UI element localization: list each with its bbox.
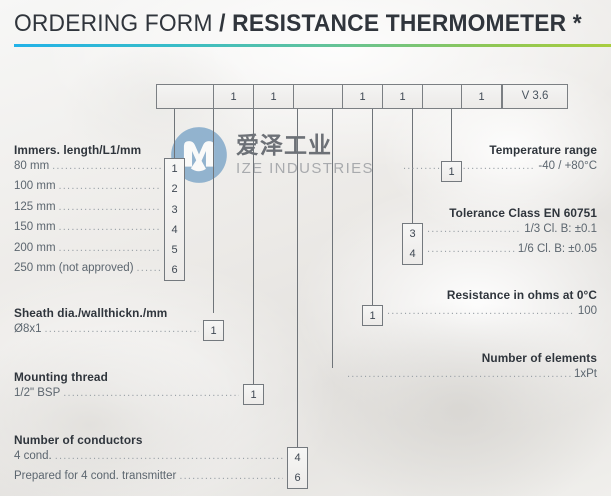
code-cell-8[interactable]: 1 [461,84,502,109]
dot-leader: ........................................… [347,369,571,380]
option-label: 200 mm [14,242,56,254]
page-header: ORDERING FORM / RESISTANCE THERMOMETER * [14,10,611,38]
option-label: -40 / +80°C [538,160,597,172]
dot-leader: ........................................… [59,222,161,233]
option-label: 150 mm [14,221,56,233]
group-temperature-range: Temperature range ......................… [400,143,597,180]
dot-leader: ........................................… [179,471,283,482]
leader-line-mounting-thread [253,109,254,384]
option-row: ........................................… [424,223,597,243]
dot-leader: ........................................… [137,263,161,274]
option-row: ........................................… [400,160,597,180]
option-label: 100 mm [14,180,56,192]
group-title: Resistance in ohms at 0°C [384,288,597,302]
watermark: 爱泽工业 IZE INDUSTRIES [170,124,415,196]
option-row: ........................................… [384,305,597,325]
group-title: Number of elements [344,351,597,365]
code-cell-7[interactable] [422,84,462,109]
option-label: 1/6 Cl. B: ±0.05 [518,243,597,255]
option-row: 1/2" BSP ...............................… [14,387,242,407]
group-title: Tolerance Class EN 60751 [424,206,597,220]
dot-leader: ........................................… [59,202,161,213]
page-title-separator: / [219,10,232,37]
code-value: 1 [204,321,223,342]
page-title-light: ORDERING FORM [14,10,219,37]
code-value: 4 [403,244,422,264]
group-sheath-dia: Sheath dia./wallthickn./mm Ø8x1 ........… [14,306,202,343]
code-cell-5[interactable]: 1 [342,84,383,109]
leader-line-resistance [372,109,373,305]
option-row: 80 mm ..................................… [14,160,164,180]
group-title: Immers. length/L1/mm [14,143,164,157]
option-label: 1xPt [574,368,597,380]
option-label: 80 mm [14,160,49,172]
option-row: ........................................… [344,368,597,388]
option-label: 1/2" BSP [14,387,60,399]
header-gradient-rule [14,44,611,47]
dot-leader: ........................................… [59,243,161,254]
code-cell-2[interactable]: 1 [213,84,254,109]
option-row: Ø8x1 ...................................… [14,323,202,343]
code-cell-4[interactable] [293,84,343,109]
group-immersion-length: Immers. length/L1/mm 80 mm .............… [14,143,164,282]
group-conductors: Number of conductors 4 cond. ...........… [14,433,286,491]
dot-leader: ........................................… [63,388,239,399]
code-value: 6 [165,260,184,280]
watermark-english-text: IZE INDUSTRIES [236,160,374,177]
option-row: ........................................… [424,243,597,263]
option-label: Prepared for 4 cond. transmitter [14,470,176,482]
leader-line-elements [332,109,333,368]
option-row: 4 cond. ................................… [14,450,286,470]
ordering-form-page: ORDERING FORM / RESISTANCE THERMOMETER *… [0,0,611,496]
dot-leader: ........................................… [427,224,521,235]
dot-leader: ........................................… [55,451,283,462]
page-title-bold: RESISTANCE THERMOMETER * [232,10,582,37]
option-row: 100 mm .................................… [14,180,164,200]
option-row: 150 mm .................................… [14,221,164,241]
code-value: 3 [403,224,422,244]
group-tolerance-class: Tolerance Class EN 60751 ...............… [424,206,597,264]
code-box-immersion-length[interactable]: 1 2 3 4 5 6 [164,158,185,281]
option-label: 1/3 Cl. B: ±0.1 [524,223,597,235]
code-cell-3[interactable]: 1 [253,84,294,109]
group-resistance: Resistance in ohms at 0°C ..............… [384,288,597,325]
option-row: 125 mm .................................… [14,201,164,221]
leader-line-immersion [174,109,175,159]
code-value: 2 [165,179,184,199]
option-row: 250 mm (not approved) ..................… [14,262,164,282]
group-title: Temperature range [400,143,597,157]
leader-line-sheath [213,109,214,313]
leader-line-conductors [297,109,298,447]
option-row: Prepared for 4 cond. transmitter .......… [14,470,286,490]
group-elements: Number of elements .....................… [344,351,597,388]
version-cell: V 3.6 [502,84,568,109]
group-title: Mounting thread [14,370,242,384]
code-box-sheath-dia[interactable]: 1 [203,320,224,341]
dot-leader: ........................................… [403,161,535,172]
code-value: 4 [165,220,184,240]
dot-leader: ........................................… [387,306,575,317]
dot-leader: ........................................… [427,244,515,255]
dot-leader: ........................................… [59,181,161,192]
code-value: 6 [288,468,307,488]
background-blotch [300,300,611,496]
code-value: 1 [442,162,461,183]
code-box-temperature-range[interactable]: 1 [441,161,462,182]
page-title: ORDERING FORM / RESISTANCE THERMOMETER * [14,10,569,38]
code-value: 1 [244,385,263,406]
group-title: Number of conductors [14,433,286,447]
group-title: Sheath dia./wallthickn./mm [14,306,202,320]
code-box-resistance[interactable]: 1 [362,305,383,326]
watermark-chinese-text: 爱泽工业 [236,126,332,160]
code-cell-1[interactable] [156,84,214,109]
dot-leader: ........................................… [52,161,161,172]
option-row: 200 mm .................................… [14,242,164,262]
code-box-tolerance-class[interactable]: 3 4 [402,223,423,265]
code-value: 1 [363,306,382,327]
code-value: 4 [288,448,307,468]
code-value: 3 [165,200,184,220]
option-label: 100 [578,305,597,317]
option-label: 250 mm (not approved) [14,262,134,274]
option-label: 125 mm [14,201,56,213]
code-value: 5 [165,240,184,260]
code-box-mounting-thread[interactable]: 1 [243,384,264,405]
dot-leader: ........................................… [45,324,200,335]
group-mounting-thread: Mounting thread 1/2" BSP ...............… [14,370,242,407]
code-cell-6[interactable]: 1 [382,84,423,109]
code-box-conductors[interactable]: 4 6 [287,447,308,489]
option-label: Ø8x1 [14,323,42,335]
option-label: 4 cond. [14,450,52,462]
code-value: 1 [165,159,184,179]
